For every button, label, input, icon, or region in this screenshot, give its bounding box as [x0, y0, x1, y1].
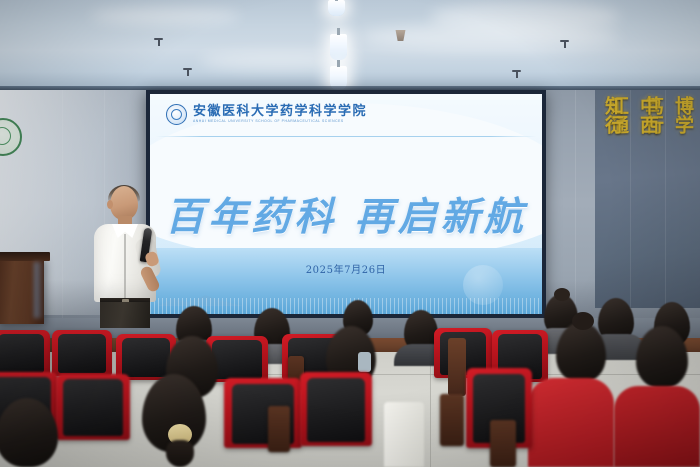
- auditorium-seat: [224, 378, 302, 448]
- slide-logo-chinese: 安徽医科大学药学科学学院: [193, 105, 367, 118]
- ceiling-sheen: [90, 8, 240, 24]
- seat-armrest: [440, 394, 464, 446]
- projection-screen: 安徽医科大学药学科学学院 ANHUI MEDICAL UNIVERSITY SC…: [146, 90, 546, 318]
- calligraphy-column-left: 知行 并进: [598, 96, 628, 134]
- speaker-head: [110, 186, 138, 220]
- slide-date: 2025年7月26日: [150, 261, 542, 276]
- audience-hair-bun: [572, 312, 594, 330]
- lecture-hall-photo: 博学 笃行 中西 汇通 知行 并进 安徽医科大学药学科学学院 ANHUI MED…: [0, 0, 700, 467]
- calligraphy-column-middle: 中西 汇通: [633, 96, 663, 134]
- sprinkler-icon: [512, 70, 521, 78]
- audience-hair-clip-icon: [358, 352, 371, 372]
- calligraphy-column-right: 博学 笃行: [668, 96, 698, 134]
- wall-calligraphy-panel: 博学 笃行 中西 汇通 知行 并进: [595, 90, 700, 308]
- sprinkler-icon: [560, 40, 569, 48]
- audience-torso-red: [528, 378, 614, 467]
- slide-logo-english: ANHUI MEDICAL UNIVERSITY SCHOOL OF PHARM…: [193, 120, 367, 123]
- speaker-presenter: [88, 186, 164, 326]
- seat-side-panel: [448, 338, 466, 396]
- audience-ponytail: [166, 440, 194, 467]
- slide-logo: 安徽医科大学药学科学学院 ANHUI MEDICAL UNIVERSITY SC…: [166, 104, 367, 125]
- auditorium-seat: [56, 374, 130, 440]
- sprinkler-icon: [183, 68, 192, 76]
- audience-torso-red: [614, 386, 700, 467]
- slide-title: 百年药科 再启新航: [150, 186, 542, 242]
- slide-logo-text: 安徽医科大学药学科学学院 ANHUI MEDICAL UNIVERSITY SC…: [193, 105, 367, 123]
- speaker-shirt-placket: [124, 234, 126, 298]
- auditorium-seat: [300, 372, 372, 446]
- university-seal-icon: [166, 104, 187, 125]
- sprinkler-icon: [154, 38, 163, 46]
- slide-divider: [156, 136, 536, 137]
- paper-stack: [384, 402, 424, 467]
- lectern-screen-glow: [34, 262, 44, 318]
- floor-tile-line: [430, 352, 431, 467]
- speaker-trousers: [100, 302, 150, 328]
- pendant-light: [328, 0, 345, 16]
- presentation-slide: 安徽医科大学药学科学学院 ANHUI MEDICAL UNIVERSITY SC…: [150, 94, 542, 314]
- lectern-top: [0, 252, 50, 261]
- seat-armrest: [268, 406, 290, 452]
- ceiling: [0, 0, 700, 92]
- auditorium-seat: [0, 330, 50, 376]
- audience-head: [556, 322, 606, 382]
- pendant-light: [330, 34, 347, 60]
- speaker-ear: [107, 200, 113, 209]
- audience-hair-bun: [554, 288, 570, 301]
- auditorium-seat: [52, 330, 112, 376]
- audience-head: [636, 326, 688, 388]
- slide-bottom-band: [150, 248, 542, 314]
- seat-armrest: [490, 420, 516, 467]
